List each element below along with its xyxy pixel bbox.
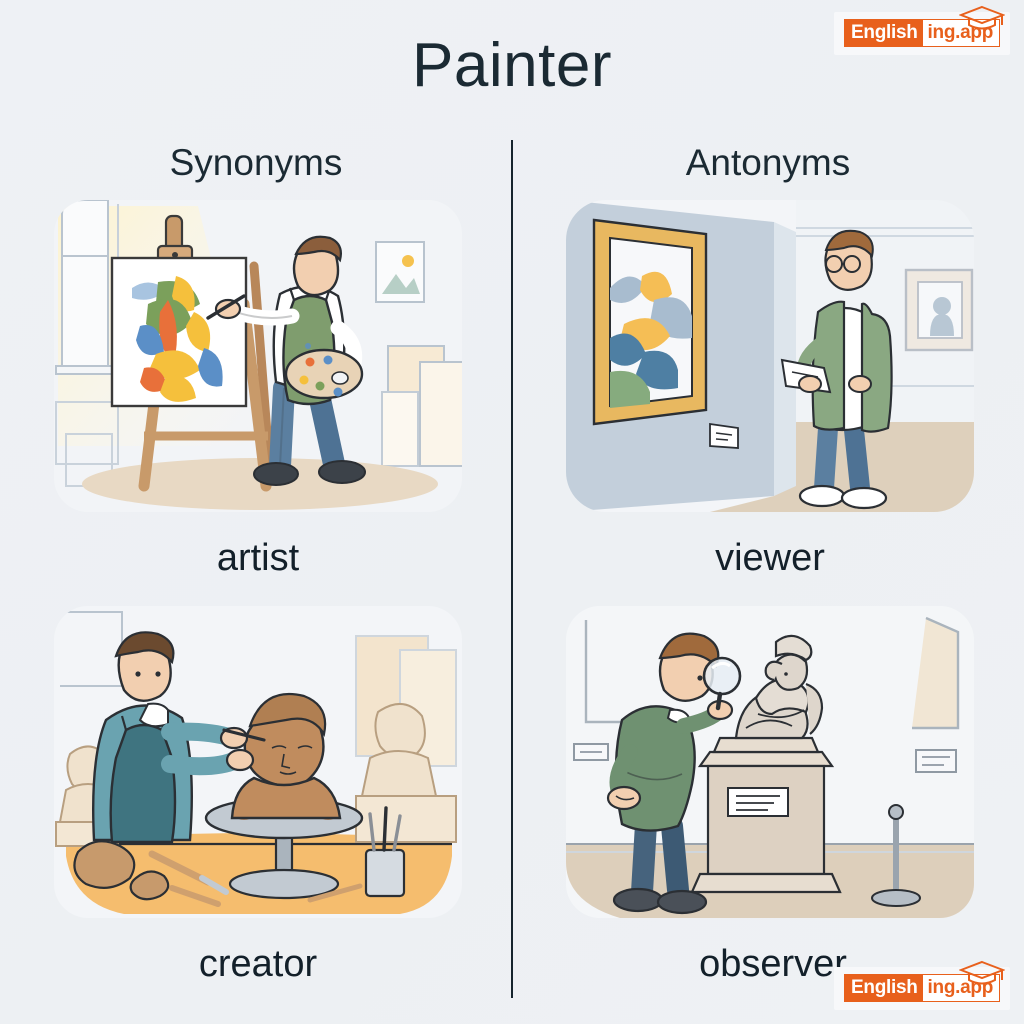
graduation-cap-icon-bottom: [959, 959, 1005, 985]
sculptor-illustration: [48, 602, 468, 922]
brand-logo-mark-bottom: English ing.app: [844, 974, 1000, 1002]
synonym-card-artist: artist: [48, 196, 468, 586]
synonym-card-creator: creator: [48, 602, 468, 992]
graduation-cap-icon: [959, 4, 1005, 30]
antonym-card-viewer: viewer: [560, 196, 980, 586]
column-header-synonyms: Synonyms: [6, 142, 506, 184]
column-divider: [511, 140, 513, 998]
statue-observer-illustration: [560, 602, 980, 922]
antonym-label-viewer: viewer: [560, 537, 980, 580]
page-background: Painter Synonyms Antonyms: [0, 0, 1024, 1024]
painter-at-easel-illustration: [48, 196, 468, 516]
brand-logo-bottom[interactable]: English ing.app: [834, 967, 1010, 1010]
brand-logo-mark: English ing.app: [844, 19, 1000, 47]
synonym-label-creator: creator: [48, 943, 468, 986]
column-header-antonyms: Antonyms: [518, 142, 1018, 184]
brand-logo-left-text-bottom: English: [845, 975, 923, 1001]
gallery-visitor-illustration: [560, 196, 980, 516]
synonym-label-artist: artist: [48, 537, 468, 580]
brand-logo-left-text: English: [845, 20, 923, 46]
brand-logo-top[interactable]: English ing.app: [834, 12, 1010, 55]
antonym-card-observer: observer: [560, 602, 980, 992]
